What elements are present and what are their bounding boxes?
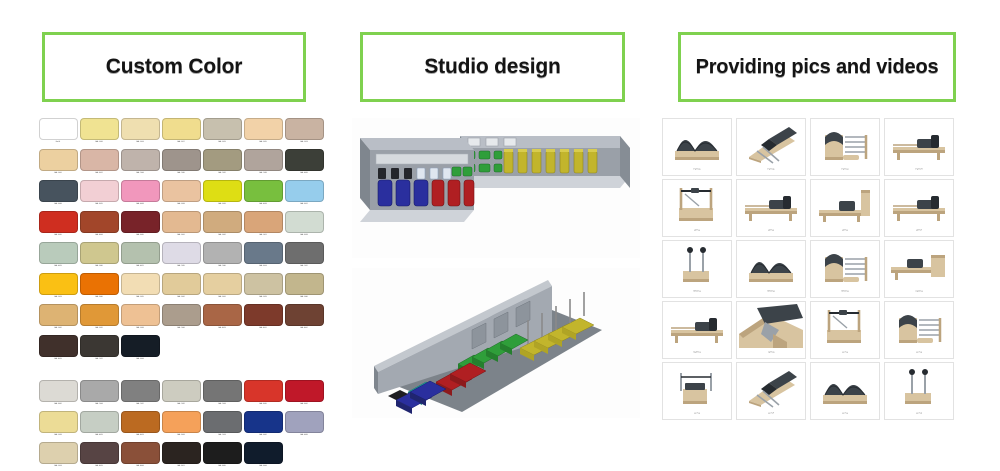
color-swatch-caption: RAL 6021	[121, 265, 160, 272]
color-swatch-caption: RAL 2000	[80, 296, 119, 303]
color-swatch-caption: RAL 5004	[121, 358, 160, 365]
product-photo-caption: PBA-01	[665, 169, 729, 176]
color-swatch[interactable]	[162, 149, 201, 171]
color-swatch[interactable]	[203, 304, 242, 326]
color-swatch[interactable]	[285, 211, 324, 233]
color-swatch-caption: RAL 5004	[244, 465, 283, 471]
color-swatch[interactable]	[162, 411, 201, 433]
color-swatch-caption: RAL 1014	[39, 465, 78, 471]
color-swatch[interactable]	[80, 149, 119, 171]
color-swatch-cell[interactable]: RAL 3020	[243, 380, 283, 409]
color-swatch-cell[interactable]: RAL 1002	[202, 211, 242, 240]
swatch-row: No.01RAL 1016RAL 1014RAL 1017RAL 1019RAL…	[38, 118, 330, 147]
product-illustration	[739, 365, 803, 409]
color-swatch-caption: RAL 1001	[203, 296, 242, 303]
color-swatch[interactable]	[244, 242, 283, 264]
color-swatch[interactable]	[244, 273, 283, 295]
color-swatch-caption: RAL 1001	[162, 234, 201, 241]
color-swatch-caption: RAL 9011	[162, 465, 201, 471]
color-swatch-cell[interactable]: RAL 1000	[284, 273, 324, 302]
color-swatch-caption: RAL 6009	[285, 172, 324, 179]
color-swatch[interactable]	[121, 273, 160, 295]
product-photo-cell[interactable]: BA-03	[810, 179, 880, 237]
color-swatch-cell[interactable]: RAL 1032	[79, 304, 119, 333]
color-swatch-cell[interactable]: RAL 1023	[38, 273, 78, 302]
color-chart-panel: No.01RAL 1016RAL 1014RAL 1017RAL 1019RAL…	[38, 118, 330, 446]
color-swatch[interactable]	[285, 149, 324, 171]
color-swatch[interactable]	[203, 211, 242, 233]
color-swatch[interactable]	[203, 442, 242, 464]
color-swatch[interactable]	[121, 442, 160, 464]
color-swatch-cell[interactable]: RAL 7040	[202, 242, 242, 271]
product-photo-cell[interactable]: TBA-01	[736, 301, 806, 359]
product-photo-row: CH-03CH-04CH-05CH-06	[662, 362, 962, 420]
cad-render-studio-layout-iso	[352, 268, 640, 418]
color-swatch-cell[interactable]: No.01	[38, 118, 78, 147]
color-swatch[interactable]	[39, 211, 78, 233]
color-swatch-cell[interactable]: RAL 7035	[161, 242, 201, 271]
color-swatch-cell[interactable]: RAL 6019	[79, 411, 119, 440]
color-swatch-caption: RAL 7038	[244, 172, 283, 179]
color-swatch[interactable]	[244, 149, 283, 171]
product-illustration	[665, 243, 729, 287]
color-swatch-cell[interactable]: RAL 3015	[79, 180, 119, 209]
color-swatch-cell[interactable]: RAL 6019	[38, 242, 78, 271]
color-swatch-cell[interactable]: RAL 7022	[79, 335, 119, 364]
color-swatch-cell[interactable]: RAL 1034	[161, 180, 201, 209]
color-swatch-cell[interactable]: RAL 1018	[38, 411, 78, 440]
product-photo-row: PBA-01PBA-02PBA-03PBA-04	[662, 118, 962, 176]
product-photo-cell[interactable]: CH-04	[736, 362, 806, 420]
product-photo-caption: MBA-01	[665, 352, 729, 359]
color-swatch-cell[interactable]: RAL 7043	[202, 380, 242, 409]
color-swatch-cell[interactable]: RAL 8004	[120, 442, 160, 471]
product-photo-caption: CH-05	[813, 413, 877, 420]
color-swatch-cell[interactable]: RAL 2003	[161, 411, 201, 440]
product-photo-cell[interactable]: BA-01	[662, 179, 732, 237]
color-swatch-caption: RAL 7030	[162, 172, 201, 179]
color-swatch-caption: RAL 5008	[39, 203, 78, 210]
swatch-row: RAL 6019RAL 1000RAL 6021RAL 7035RAL 7040…	[38, 242, 330, 271]
header-box-custom-color: Custom Color	[42, 32, 306, 102]
color-swatch[interactable]	[162, 118, 201, 140]
color-swatch-cell[interactable]: RAL 3012	[79, 149, 119, 178]
color-swatch-caption: RAL 7032	[162, 403, 201, 410]
color-swatch-cell[interactable]: RAL 5002	[243, 411, 283, 440]
page-root: Custom Color Studio design Providing pic…	[0, 0, 1000, 446]
product-photo-caption: ARM-01	[665, 291, 729, 298]
color-swatch[interactable]	[285, 273, 324, 295]
product-photo-caption: HBM-01	[887, 291, 951, 298]
swatch-row: RAL 1014RAL 8019RAL 8004RAL 9011RAL 9005…	[38, 442, 330, 471]
color-swatch-cell[interactable]: RAL 8019	[79, 442, 119, 471]
color-swatch-cell[interactable]: RAL 1014	[38, 442, 78, 471]
color-swatch[interactable]	[121, 211, 160, 233]
color-swatch-caption: RAL 1016	[80, 141, 119, 148]
color-swatch[interactable]	[244, 442, 283, 464]
product-illustration	[887, 243, 951, 287]
color-swatch-caption: RAL 3005	[121, 234, 160, 241]
product-illustration	[813, 243, 877, 287]
product-photo-caption: BA-02	[739, 230, 803, 237]
swatch-row: RAL 1001RAL 3012RAL 7044RAL 7030RAL 7032…	[38, 149, 330, 178]
color-swatch-cell[interactable]: RAL 8012	[243, 304, 283, 333]
color-swatch-cell[interactable]: RAL 7044	[120, 149, 160, 178]
color-swatch[interactable]	[80, 273, 119, 295]
product-illustration	[739, 304, 803, 348]
color-swatch-cell[interactable]: RAL 1000	[79, 242, 119, 271]
product-photo-cell[interactable]: PBA-02	[736, 118, 806, 176]
product-illustration	[887, 304, 951, 348]
color-swatch-caption: RAL 7044	[121, 172, 160, 179]
product-illustration	[887, 365, 951, 409]
color-swatch-caption: RAL 1000	[285, 296, 324, 303]
product-illustration	[813, 182, 877, 226]
color-swatch-cell[interactable]: RAL 1013	[284, 118, 324, 147]
color-swatch-caption: RAL 6019	[39, 265, 78, 272]
product-photo-cell[interactable]: CH-03	[662, 362, 732, 420]
color-swatch-caption: RAL 8019	[39, 358, 78, 365]
color-swatch[interactable]	[80, 335, 119, 357]
color-swatch-caption: RAL 1000	[80, 265, 119, 272]
product-illustration	[887, 121, 951, 165]
color-swatch[interactable]	[121, 118, 160, 140]
color-swatch-caption: RAL 8023	[121, 434, 160, 441]
product-photo-row: BA-01BA-02BA-03BA-04	[662, 179, 962, 237]
color-swatch[interactable]	[80, 304, 119, 326]
product-photo-caption: CH-04	[739, 413, 803, 420]
color-swatch-cell[interactable]: RAL 3005	[120, 211, 160, 240]
product-photo-cell[interactable]: ARM-03	[810, 240, 880, 298]
color-swatch[interactable]	[80, 411, 119, 433]
product-photo-caption: PBA-03	[813, 169, 877, 176]
color-swatch-cell[interactable]: RAL 1016	[79, 118, 119, 147]
color-swatch-cell[interactable]: RAL 1002	[161, 273, 201, 302]
color-swatch[interactable]	[285, 180, 324, 202]
product-photo-caption: CH-03	[665, 413, 729, 420]
color-swatch-cell[interactable]: RAL 6009	[284, 149, 324, 178]
color-swatch-cell[interactable]: RAL 5008	[38, 180, 78, 209]
swatch-row: RAL 8019RAL 7022RAL 5004	[38, 335, 330, 364]
color-swatch[interactable]	[39, 442, 78, 464]
color-swatch-cell[interactable]: RAL 8023	[120, 411, 160, 440]
product-illustration	[739, 182, 803, 226]
product-photo-caption: PBA-02	[739, 169, 803, 176]
color-swatch-caption: RAL 7004	[80, 403, 119, 410]
product-photo-cell[interactable]: CH-02	[884, 301, 954, 359]
color-swatch-cell[interactable]: RAL 7037	[120, 380, 160, 409]
color-swatch[interactable]	[162, 211, 201, 233]
product-photo-caption: BA-03	[813, 230, 877, 237]
product-photo-cell[interactable]: MBA-01	[662, 301, 732, 359]
product-photo-cell[interactable]: PBA-04	[884, 118, 954, 176]
color-swatch[interactable]	[39, 411, 78, 433]
header-label-custom-color: Custom Color	[106, 55, 242, 79]
color-swatch[interactable]	[162, 380, 201, 402]
swatch-row: RAL 1002RAL 1032RAL 1034RAL 7006RAL 8023…	[38, 304, 330, 333]
color-swatch[interactable]	[121, 180, 160, 202]
color-swatch-caption: RAL 1013	[285, 141, 324, 148]
swatch-row: RAL 1018RAL 6019RAL 8023RAL 2003RAL 7024…	[38, 411, 330, 440]
color-swatch-cell[interactable]: RAL 4003	[120, 180, 160, 209]
product-illustration	[813, 121, 877, 165]
color-swatch-cell[interactable]: RAL 1015	[243, 118, 283, 147]
color-swatch[interactable]	[203, 273, 242, 295]
color-swatch-cell[interactable]: RAL 6018	[243, 180, 283, 209]
color-swatch-cell[interactable]: RAL 7032	[161, 380, 201, 409]
color-swatch-cell[interactable]: RAL 5012	[284, 180, 324, 209]
color-swatch-cell[interactable]: RAL 2000	[79, 273, 119, 302]
color-swatch[interactable]	[121, 149, 160, 171]
color-swatch[interactable]	[80, 211, 119, 233]
color-swatch-cell[interactable]: RAL 4009	[284, 411, 324, 440]
color-swatch-caption: RAL 8019	[80, 465, 119, 471]
color-swatch-caption: RAL 7032	[203, 172, 242, 179]
color-swatch-cell[interactable]: RAL 1011	[243, 211, 283, 240]
color-swatch-caption: RAL 8004	[121, 465, 160, 471]
color-swatch-caption: RAL 1032	[80, 327, 119, 334]
color-swatch-cell[interactable]: RAL 1026	[202, 180, 242, 209]
color-swatch[interactable]	[244, 380, 283, 402]
color-swatch-caption: RAL 7006	[162, 327, 201, 334]
color-swatch-caption: RAL 7024	[203, 434, 242, 441]
color-swatch-cell[interactable]: RAL 8019	[38, 335, 78, 364]
color-swatch-caption: RAL 5014	[244, 265, 283, 272]
color-swatch-cell[interactable]: RAL 8004	[79, 211, 119, 240]
color-swatch-cell[interactable]: RAL 6021	[120, 242, 160, 271]
color-swatch[interactable]	[39, 380, 78, 402]
swatch-row: RAL 1023RAL 2000RAL 1015RAL 1002RAL 1001…	[38, 273, 330, 302]
color-swatch[interactable]	[162, 242, 201, 264]
color-swatch[interactable]	[39, 180, 78, 202]
product-photo-panel: PBA-01PBA-02PBA-03PBA-04BA-01BA-02BA-03B…	[662, 118, 962, 446]
swatch-row: RAL 9002RAL 7004RAL 7037RAL 7032RAL 7043…	[38, 380, 330, 409]
color-swatch-caption: RAL 1015	[121, 296, 160, 303]
color-swatch-cell[interactable]: RAL 9002	[38, 380, 78, 409]
header-label-providing-pics-and-videos: Providing pics and videos	[696, 56, 939, 78]
product-illustration	[665, 121, 729, 165]
color-swatch-caption: RAL 1017	[162, 141, 201, 148]
color-swatch[interactable]	[203, 149, 242, 171]
color-swatch[interactable]	[39, 149, 78, 171]
color-swatch-caption: RAL 1002	[162, 296, 201, 303]
color-swatch[interactable]	[121, 242, 160, 264]
color-swatch-cell[interactable]: RAL 7004	[79, 380, 119, 409]
studio-layout-iso-illustration	[352, 268, 640, 418]
studio-layout-top-illustration	[352, 118, 640, 258]
product-photo-cell[interactable]: ARM-02	[736, 240, 806, 298]
color-swatch-cell[interactable]: RAL 7030	[161, 149, 201, 178]
color-swatch[interactable]	[162, 273, 201, 295]
product-photo-caption: TBA-01	[739, 352, 803, 359]
product-photo-row: MBA-01TBA-01CH-01CH-02	[662, 301, 962, 359]
color-swatch[interactable]	[80, 118, 119, 140]
product-illustration	[887, 182, 951, 226]
color-swatch[interactable]	[244, 304, 283, 326]
header-box-providing-pics-and-videos: Providing pics and videos	[678, 32, 956, 102]
color-swatch-caption: RAL 4003	[121, 203, 160, 210]
color-swatch-cell[interactable]: RAL 3020	[38, 211, 78, 240]
color-swatch-cell[interactable]: RAL 5004	[243, 442, 283, 471]
color-swatch-caption: RAL 1026	[203, 203, 242, 210]
color-swatch[interactable]	[39, 273, 78, 295]
color-swatch-cell[interactable]: RAL 7024	[202, 411, 242, 440]
color-swatch[interactable]	[121, 380, 160, 402]
product-photo-caption: BA-04	[887, 230, 951, 237]
color-swatch-caption: RAL 8012	[244, 327, 283, 334]
color-swatch[interactable]	[162, 180, 201, 202]
color-swatch[interactable]	[80, 242, 119, 264]
color-swatch-cell[interactable]: RAL 9005	[202, 442, 242, 471]
color-swatch-cell[interactable]: RAL 7038	[243, 149, 283, 178]
color-swatch-cell[interactable]: RAL 1019	[202, 118, 242, 147]
color-swatch-caption: No.01	[39, 141, 78, 148]
color-swatch[interactable]	[39, 242, 78, 264]
color-swatch-caption: RAL 2003	[162, 434, 201, 441]
product-illustration	[813, 365, 877, 409]
product-photo-grid: PBA-01PBA-02PBA-03PBA-04BA-01BA-02BA-03B…	[662, 118, 962, 420]
color-swatch-caption: RAL 1019	[244, 296, 283, 303]
product-illustration	[739, 121, 803, 165]
product-photo-caption: ARM-02	[739, 291, 803, 298]
color-swatch[interactable]	[162, 304, 201, 326]
color-swatch-cell[interactable]: RAL 8023	[202, 304, 242, 333]
product-photo-cell[interactable]: BA-04	[884, 179, 954, 237]
color-swatch-caption: RAL 1018	[39, 434, 78, 441]
color-swatch-cell[interactable]: RAL 7032	[202, 149, 242, 178]
color-swatch[interactable]	[80, 442, 119, 464]
color-swatch-caption: RAL 7035	[162, 265, 201, 272]
color-swatch-caption: RAL 7037	[285, 265, 324, 272]
color-swatch[interactable]	[285, 304, 324, 326]
swatch-row: RAL 3020RAL 8004RAL 3005RAL 1001RAL 1002…	[38, 211, 330, 240]
color-swatch[interactable]	[80, 380, 119, 402]
color-swatch[interactable]	[244, 411, 283, 433]
product-photo-caption: CH-02	[887, 352, 951, 359]
product-illustration	[665, 365, 729, 409]
color-swatch-cell[interactable]: RAL 7006	[161, 304, 201, 333]
color-swatch-cell[interactable]: RAL 1001	[38, 149, 78, 178]
color-swatch[interactable]	[203, 380, 242, 402]
color-swatch-caption: RAL 3015	[80, 203, 119, 210]
color-swatch-caption: RAL 4009	[285, 434, 324, 441]
color-swatch[interactable]	[121, 304, 160, 326]
color-swatch-cell[interactable]: RAL 3002	[284, 380, 324, 409]
product-photo-caption: BA-01	[665, 230, 729, 237]
color-swatch-caption: RAL 7037	[121, 403, 160, 410]
swatch-group-separator	[38, 366, 330, 378]
color-swatch-cell[interactable]: RAL 1019	[243, 273, 283, 302]
color-swatch[interactable]	[162, 442, 201, 464]
color-swatch-caption: RAL 6018	[244, 203, 283, 210]
color-swatch[interactable]	[244, 211, 283, 233]
color-swatch-caption: RAL 3002	[285, 403, 324, 410]
product-illustration	[665, 182, 729, 226]
color-swatch-caption: RAL 1015	[244, 141, 283, 148]
product-photo-cell[interactable]: CH-06	[884, 362, 954, 420]
color-swatch-caption: RAL 1034	[121, 327, 160, 334]
color-swatch-grid: No.01RAL 1016RAL 1014RAL 1017RAL 1019RAL…	[38, 118, 330, 471]
color-swatch[interactable]	[39, 304, 78, 326]
color-swatch-cell[interactable]: RAL 9018	[284, 211, 324, 240]
color-swatch[interactable]	[285, 242, 324, 264]
color-swatch-caption: RAL 8007	[285, 327, 324, 334]
header-box-studio-design: Studio design	[360, 32, 625, 102]
product-photo-cell[interactable]: CH-05	[810, 362, 880, 420]
color-swatch-cell[interactable]: RAL 8007	[284, 304, 324, 333]
swatch-row: RAL 5008RAL 3015RAL 4003RAL 1034RAL 1026…	[38, 180, 330, 209]
color-swatch-caption: RAL 1011	[244, 234, 283, 241]
color-swatch-caption: RAL 7022	[80, 358, 119, 365]
product-photo-row: ARM-01ARM-02ARM-03HBM-01	[662, 240, 962, 298]
color-swatch-caption: RAL 3020	[39, 234, 78, 241]
color-swatch[interactable]	[121, 335, 160, 357]
color-swatch[interactable]	[244, 118, 283, 140]
color-swatch[interactable]	[39, 335, 78, 357]
product-photo-cell[interactable]: PBA-03	[810, 118, 880, 176]
cad-render-studio-layout-top	[352, 118, 640, 258]
color-swatch-caption: RAL 3012	[80, 172, 119, 179]
color-swatch-caption: RAL 8004	[80, 234, 119, 241]
color-swatch-caption: RAL 8023	[203, 327, 242, 334]
color-swatch-caption: RAL 9018	[285, 234, 324, 241]
color-swatch[interactable]	[203, 411, 242, 433]
color-swatch-cell[interactable]: RAL 1034	[120, 304, 160, 333]
color-swatch-caption: RAL 1002	[39, 327, 78, 334]
color-swatch-caption: RAL 1002	[203, 234, 242, 241]
product-photo-cell[interactable]: PBA-01	[662, 118, 732, 176]
color-swatch-caption: RAL 3020	[244, 403, 283, 410]
color-swatch-cell[interactable]: RAL 7037	[284, 242, 324, 271]
color-swatch[interactable]	[285, 380, 324, 402]
color-swatch-cell[interactable]: RAL 1015	[120, 273, 160, 302]
color-swatch-cell[interactable]: RAL 1014	[120, 118, 160, 147]
product-photo-cell[interactable]: ARM-01	[662, 240, 732, 298]
color-swatch-cell[interactable]: RAL 1002	[38, 304, 78, 333]
product-illustration	[665, 304, 729, 348]
color-swatch-caption: RAL 9005	[203, 465, 242, 471]
product-photo-caption: CH-01	[813, 352, 877, 359]
header-label-studio-design: Studio design	[424, 55, 560, 79]
color-swatch[interactable]	[244, 180, 283, 202]
color-swatch-cell[interactable]: RAL 1001	[202, 273, 242, 302]
color-swatch[interactable]	[285, 411, 324, 433]
color-swatch-caption: RAL 1001	[39, 172, 78, 179]
color-swatch[interactable]	[80, 180, 119, 202]
product-illustration	[813, 304, 877, 348]
product-photo-caption: ARM-03	[813, 291, 877, 298]
product-photo-cell[interactable]: HBM-01	[884, 240, 954, 298]
color-swatch-caption: RAL 5012	[285, 203, 324, 210]
product-illustration	[739, 243, 803, 287]
color-swatch[interactable]	[203, 180, 242, 202]
color-swatch-cell[interactable]: RAL 1017	[161, 118, 201, 147]
color-swatch[interactable]	[121, 411, 160, 433]
color-swatch-cell[interactable]: RAL 1001	[161, 211, 201, 240]
product-photo-caption: CH-06	[887, 413, 951, 420]
color-swatch-cell[interactable]: RAL 5014	[243, 242, 283, 271]
color-swatch-cell[interactable]: RAL 5004	[120, 335, 160, 364]
color-swatch-caption: RAL 7043	[203, 403, 242, 410]
product-photo-cell[interactable]: BA-02	[736, 179, 806, 237]
color-swatch-cell[interactable]: RAL 9011	[161, 442, 201, 471]
color-swatch[interactable]	[285, 118, 324, 140]
color-swatch-caption: RAL 1023	[39, 296, 78, 303]
product-photo-cell[interactable]: CH-01	[810, 301, 880, 359]
color-swatch[interactable]	[203, 242, 242, 264]
color-swatch[interactable]	[203, 118, 242, 140]
color-swatch[interactable]	[39, 118, 78, 140]
